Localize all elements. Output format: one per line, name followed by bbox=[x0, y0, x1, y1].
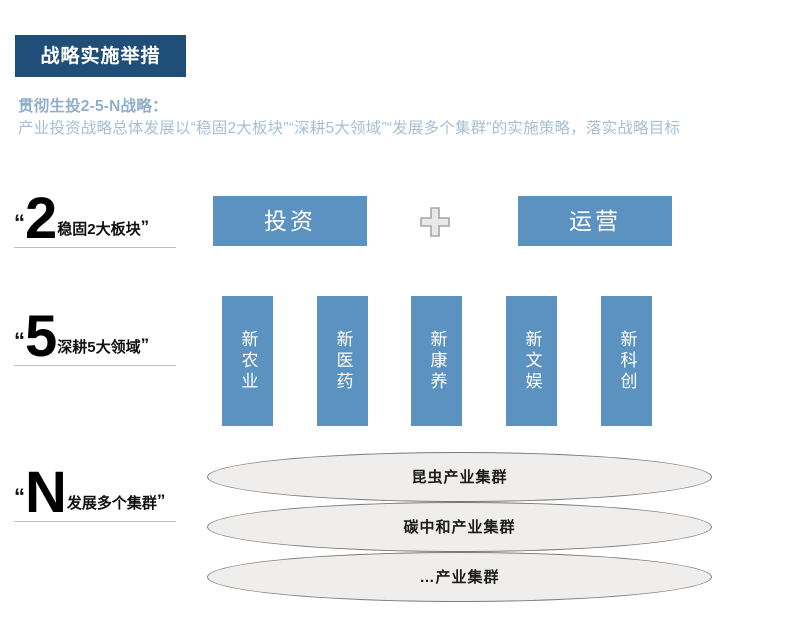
strategy-number-five: 5 bbox=[25, 312, 55, 362]
cluster-ellipse-label: 昆虫产业集群 bbox=[411, 470, 507, 485]
cluster-ellipse-carbon-neutral[interactable]: 碳中和产业集群 bbox=[207, 502, 712, 552]
strategy-number-two: 2 bbox=[25, 194, 55, 244]
cluster-ellipse-more[interactable]: …产业集群 bbox=[207, 552, 712, 602]
field-bar-new-medicine[interactable]: 新医药 bbox=[317, 296, 368, 426]
cluster-ellipse-label: …产业集群 bbox=[419, 570, 499, 585]
strategy-caption-two: 稳固2大板块 bbox=[57, 222, 140, 237]
strategy-number-n: N bbox=[25, 468, 65, 518]
cluster-ellipse-label: 碳中和产业集群 bbox=[403, 520, 515, 535]
quote-close-icon: ” bbox=[157, 492, 166, 509]
field-bar-label: 新医药 bbox=[332, 330, 354, 393]
field-bar-new-culture[interactable]: 新文娱 bbox=[506, 296, 557, 426]
strategy-label-two: “ 2 稳固2大板块 ” bbox=[14, 186, 194, 248]
cluster-ellipse-insect[interactable]: 昆虫产业集群 bbox=[207, 452, 712, 502]
field-bar-label: 新科创 bbox=[616, 330, 638, 393]
field-bar-label: 新文娱 bbox=[521, 330, 543, 393]
block-operate-label: 运营 bbox=[569, 210, 621, 233]
field-bar-new-tech[interactable]: 新科创 bbox=[601, 296, 652, 426]
strategy-label-five: “ 5 深耕5大领域 ” bbox=[14, 304, 194, 366]
quote-close-icon: ” bbox=[141, 336, 150, 353]
intro-body: 产业投资战略总体发展以“稳固2大板块”“深耕5大领域”“发展多个集群”的实施策略… bbox=[18, 118, 774, 140]
field-bar-label: 新农业 bbox=[237, 330, 259, 393]
quote-open-icon: “ bbox=[14, 212, 25, 234]
strategy-label-n: “ N 发展多个集群 ” bbox=[14, 460, 194, 522]
block-invest[interactable]: 投资 bbox=[213, 196, 367, 246]
strategy-caption-five: 深耕5大领域 bbox=[57, 340, 140, 355]
block-operate[interactable]: 运营 bbox=[518, 196, 672, 246]
field-bar-new-agriculture[interactable]: 新农业 bbox=[222, 296, 273, 426]
plus-icon bbox=[419, 206, 451, 238]
intro-paragraph: 贯彻生投2-5-N战略： 产业投资战略总体发展以“稳固2大板块”“深耕5大领域”… bbox=[18, 96, 774, 140]
field-bar-label: 新康养 bbox=[426, 330, 448, 393]
strategy-caption-n: 发展多个集群 bbox=[67, 496, 157, 511]
quote-open-icon: “ bbox=[14, 486, 25, 508]
quote-close-icon: ” bbox=[141, 218, 150, 235]
field-bar-new-health[interactable]: 新康养 bbox=[411, 296, 462, 426]
page-title-badge: 战略实施举措 bbox=[15, 35, 186, 77]
page-title: 战略实施举措 bbox=[40, 47, 160, 66]
quote-open-icon: “ bbox=[14, 330, 25, 352]
intro-lead: 贯彻生投2-5-N战略： bbox=[18, 96, 774, 118]
block-invest-label: 投资 bbox=[264, 210, 316, 233]
